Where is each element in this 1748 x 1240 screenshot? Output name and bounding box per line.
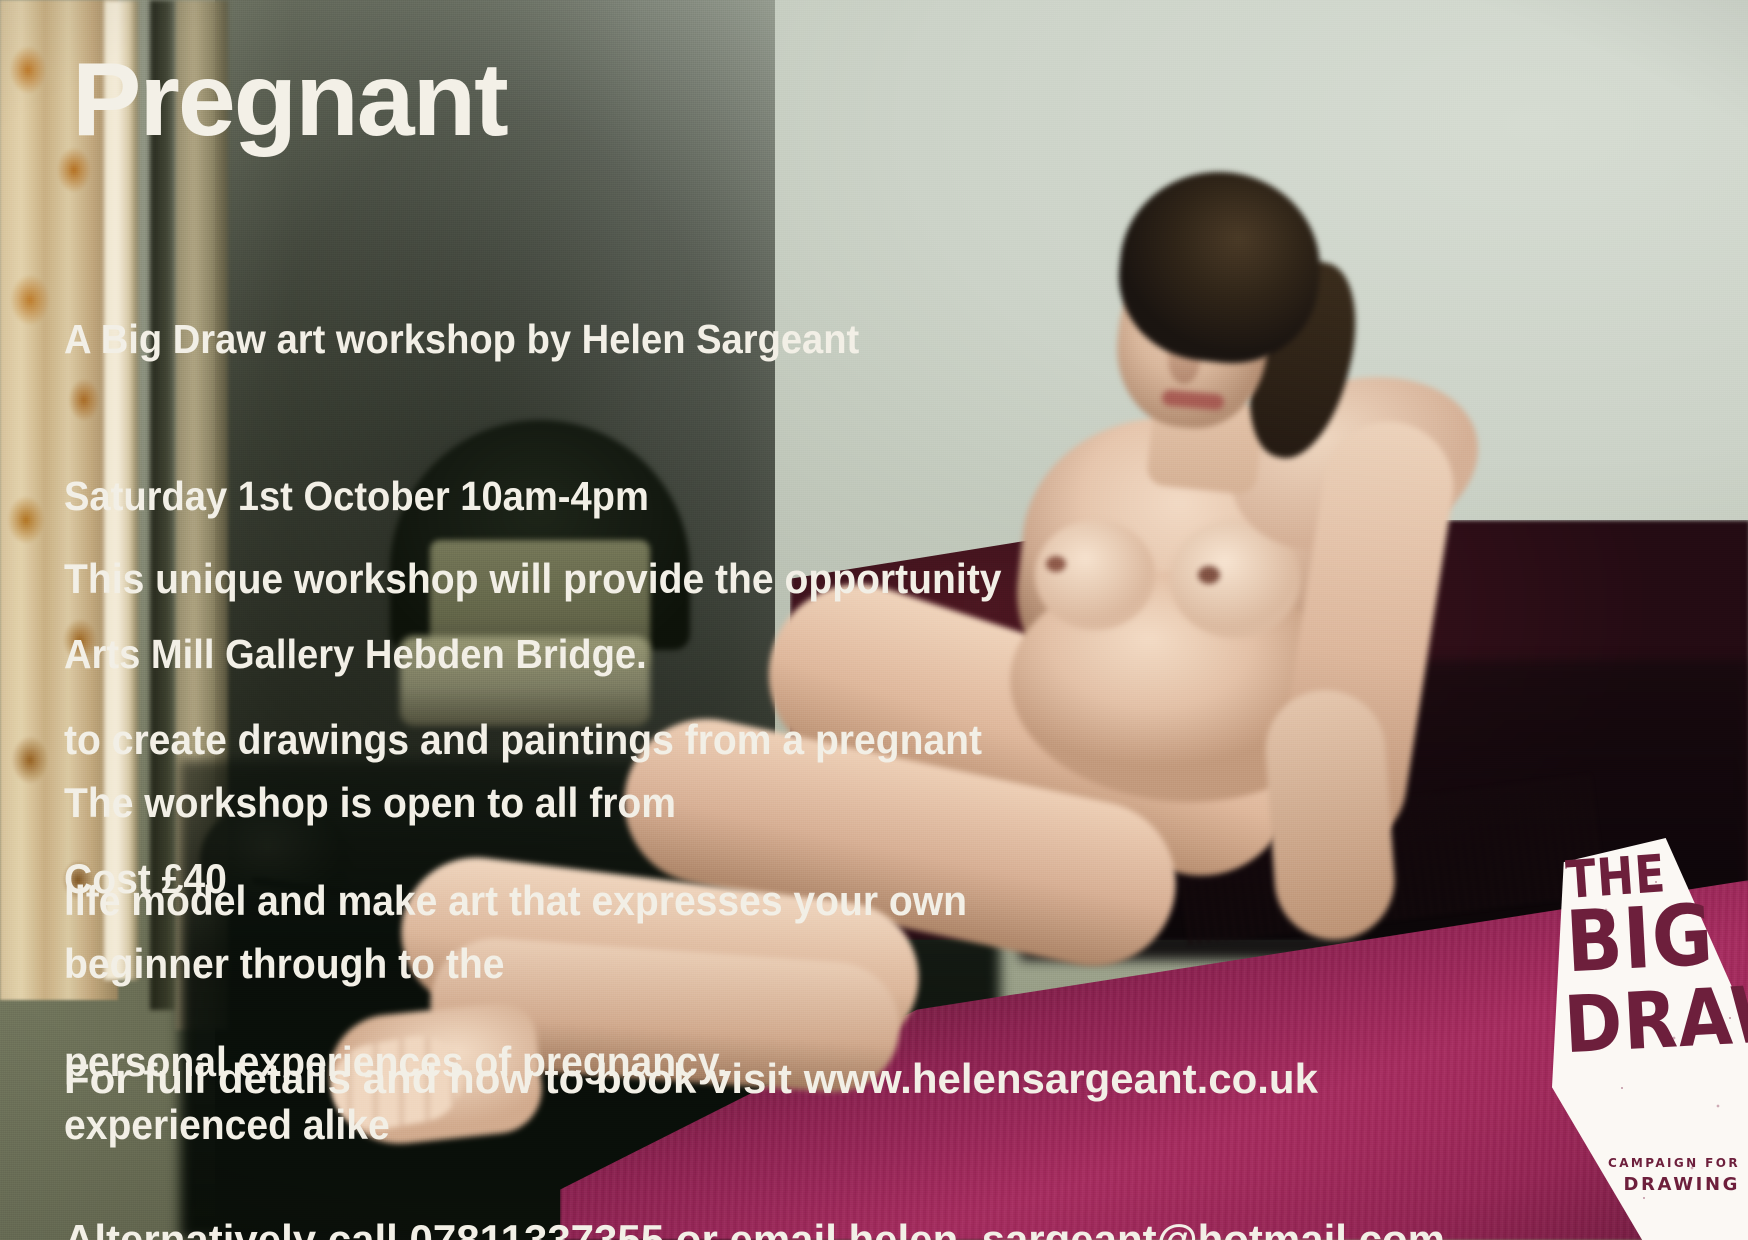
contact-line-website[interactable]: For full details and how to book visit w… — [64, 1052, 1445, 1106]
photo-figure-breast-left — [1035, 520, 1155, 630]
big-draw-tagline-campaign-for: CAMPAIGN FOR — [1608, 1156, 1740, 1170]
photo-figure-detail-left — [1046, 556, 1066, 572]
photo-figure-detail-right — [1198, 566, 1220, 584]
audience-line-1: The workshop is open to all from — [64, 776, 676, 830]
big-draw-logo: THE BIG DRAW CAMPAIGN FOR DRAWING — [1552, 838, 1748, 1240]
description-line-1: This unique workshop will provide the op… — [64, 552, 1001, 606]
big-draw-tagline-drawing: DRAWING — [1623, 1174, 1740, 1195]
photo-figure-forearm — [1261, 686, 1398, 944]
contact-line-phone-email[interactable]: Alternatively call 07811337355 or email … — [64, 1213, 1445, 1240]
poster: Pregnant A Big Draw art workshop by Hele… — [0, 0, 1748, 1240]
big-draw-logo-word-draw: DRAW — [1562, 967, 1748, 1071]
page-title: Pregnant — [72, 48, 507, 152]
event-detail-line-workshop: A Big Draw art workshop by Helen Sargean… — [64, 313, 859, 365]
contact-block: For full details and how to book visit w… — [64, 944, 1445, 1240]
cost-label: Cost £40 — [64, 852, 227, 906]
